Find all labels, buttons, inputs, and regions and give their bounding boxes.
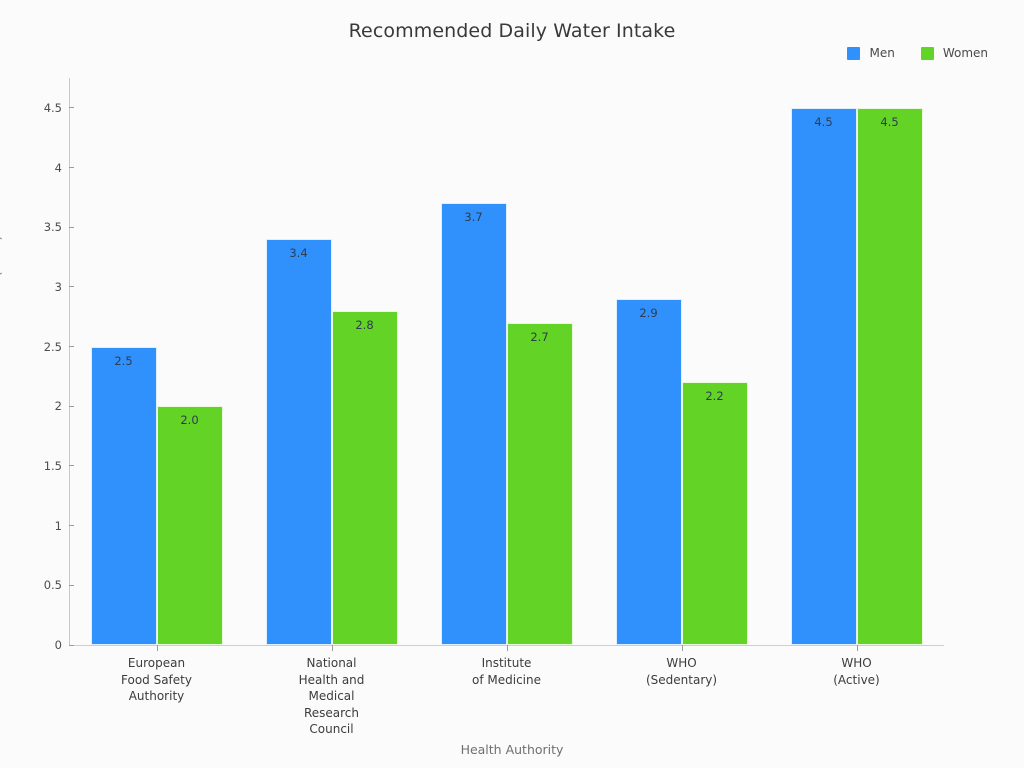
legend-swatch-men [847,47,860,60]
legend-item-women[interactable]: Women [921,46,988,60]
y-axis-tick-mark [69,167,74,168]
x-axis-tick-mark [507,645,508,651]
y-axis-tick: 2.5 [44,340,69,354]
bar-men-2[interactable]: 3.7 [441,203,507,645]
x-axis-tick-mark [857,645,858,651]
y-axis-tick: 1 [55,519,69,533]
bar-women-1[interactable]: 2.8 [332,311,398,645]
y-axis-tick: 4 [55,161,69,175]
y-axis-tick-label: 3.5 [44,220,69,234]
y-axis-tick-mark [69,585,74,586]
y-axis-tick-label: 2 [55,399,69,413]
bar-value-label: 4.5 [792,115,856,129]
legend-label-men: Men [869,46,894,60]
y-axis-tick-label: 2.5 [44,340,69,354]
legend-item-men[interactable]: Men [847,46,894,60]
bar-chart: Recommended Daily Water Intake Men Women… [0,0,1024,768]
bar-value-label: 3.4 [267,246,331,260]
bar-women-3[interactable]: 2.2 [682,382,748,645]
y-axis-tick-mark [69,645,74,646]
bar-women-2[interactable]: 2.7 [507,323,573,645]
y-axis-title: Water Intake (liters) [0,236,3,361]
y-axis-tick-mark [69,107,74,108]
bar-women-4[interactable]: 4.5 [857,108,923,645]
legend-swatch-women [921,47,934,60]
x-axis-tick-mark [157,645,158,651]
bar-women-0[interactable]: 2.0 [157,406,223,645]
bar-value-label: 2.8 [333,318,397,332]
x-axis-tick-label: Institute of Medicine [422,655,592,688]
y-axis-tick-mark [69,346,74,347]
bar-men-4[interactable]: 4.5 [791,108,857,645]
x-axis-tick-label: European Food Safety Authority [72,655,242,705]
y-axis-tick-label: 4.5 [44,101,69,115]
y-axis-tick: 3 [55,280,69,294]
y-axis-tick-mark [69,465,74,466]
x-axis-title: Health Authority [0,742,1024,757]
bar-value-label: 2.5 [92,354,156,368]
y-axis-tick: 0.5 [44,578,69,592]
x-axis-tick-mark [682,645,683,651]
chart-legend: Men Women [847,46,988,60]
legend-label-women: Women [943,46,988,60]
y-axis-tick-label: 1.5 [44,459,69,473]
y-axis-tick: 1.5 [44,459,69,473]
bar-men-3[interactable]: 2.9 [616,299,682,645]
x-axis-tick-label: National Health and Medical Research Cou… [247,655,417,738]
y-axis-tick-mark [69,286,74,287]
bar-men-0[interactable]: 2.5 [91,347,157,645]
bar-value-label: 2.7 [508,330,572,344]
y-axis-tick: 3.5 [44,220,69,234]
y-axis-tick-label: 0.5 [44,578,69,592]
plot-area: 00.511.522.533.544.5European Food Safety… [69,78,944,645]
x-axis-tick-label: WHO (Sedentary) [597,655,767,688]
y-axis-tick-mark [69,227,74,228]
y-axis-tick-label: 4 [55,161,69,175]
bar-value-label: 2.0 [158,413,222,427]
y-axis-tick-mark [69,406,74,407]
y-axis-tick: 4.5 [44,101,69,115]
y-axis-tick-label: 0 [55,638,69,652]
y-axis-line [69,78,70,645]
chart-title: Recommended Daily Water Intake [0,20,1024,42]
bar-men-1[interactable]: 3.4 [266,239,332,645]
y-axis-tick: 2 [55,399,69,413]
bar-value-label: 2.2 [683,389,747,403]
y-axis-tick-label: 1 [55,519,69,533]
x-axis-tick-mark [332,645,333,651]
bar-value-label: 4.5 [858,115,922,129]
y-axis-tick-label: 3 [55,280,69,294]
bar-value-label: 2.9 [617,306,681,320]
x-axis-tick-label: WHO (Active) [772,655,942,688]
y-axis-tick: 0 [55,638,69,652]
y-axis-tick-mark [69,525,74,526]
bar-value-label: 3.7 [442,210,506,224]
